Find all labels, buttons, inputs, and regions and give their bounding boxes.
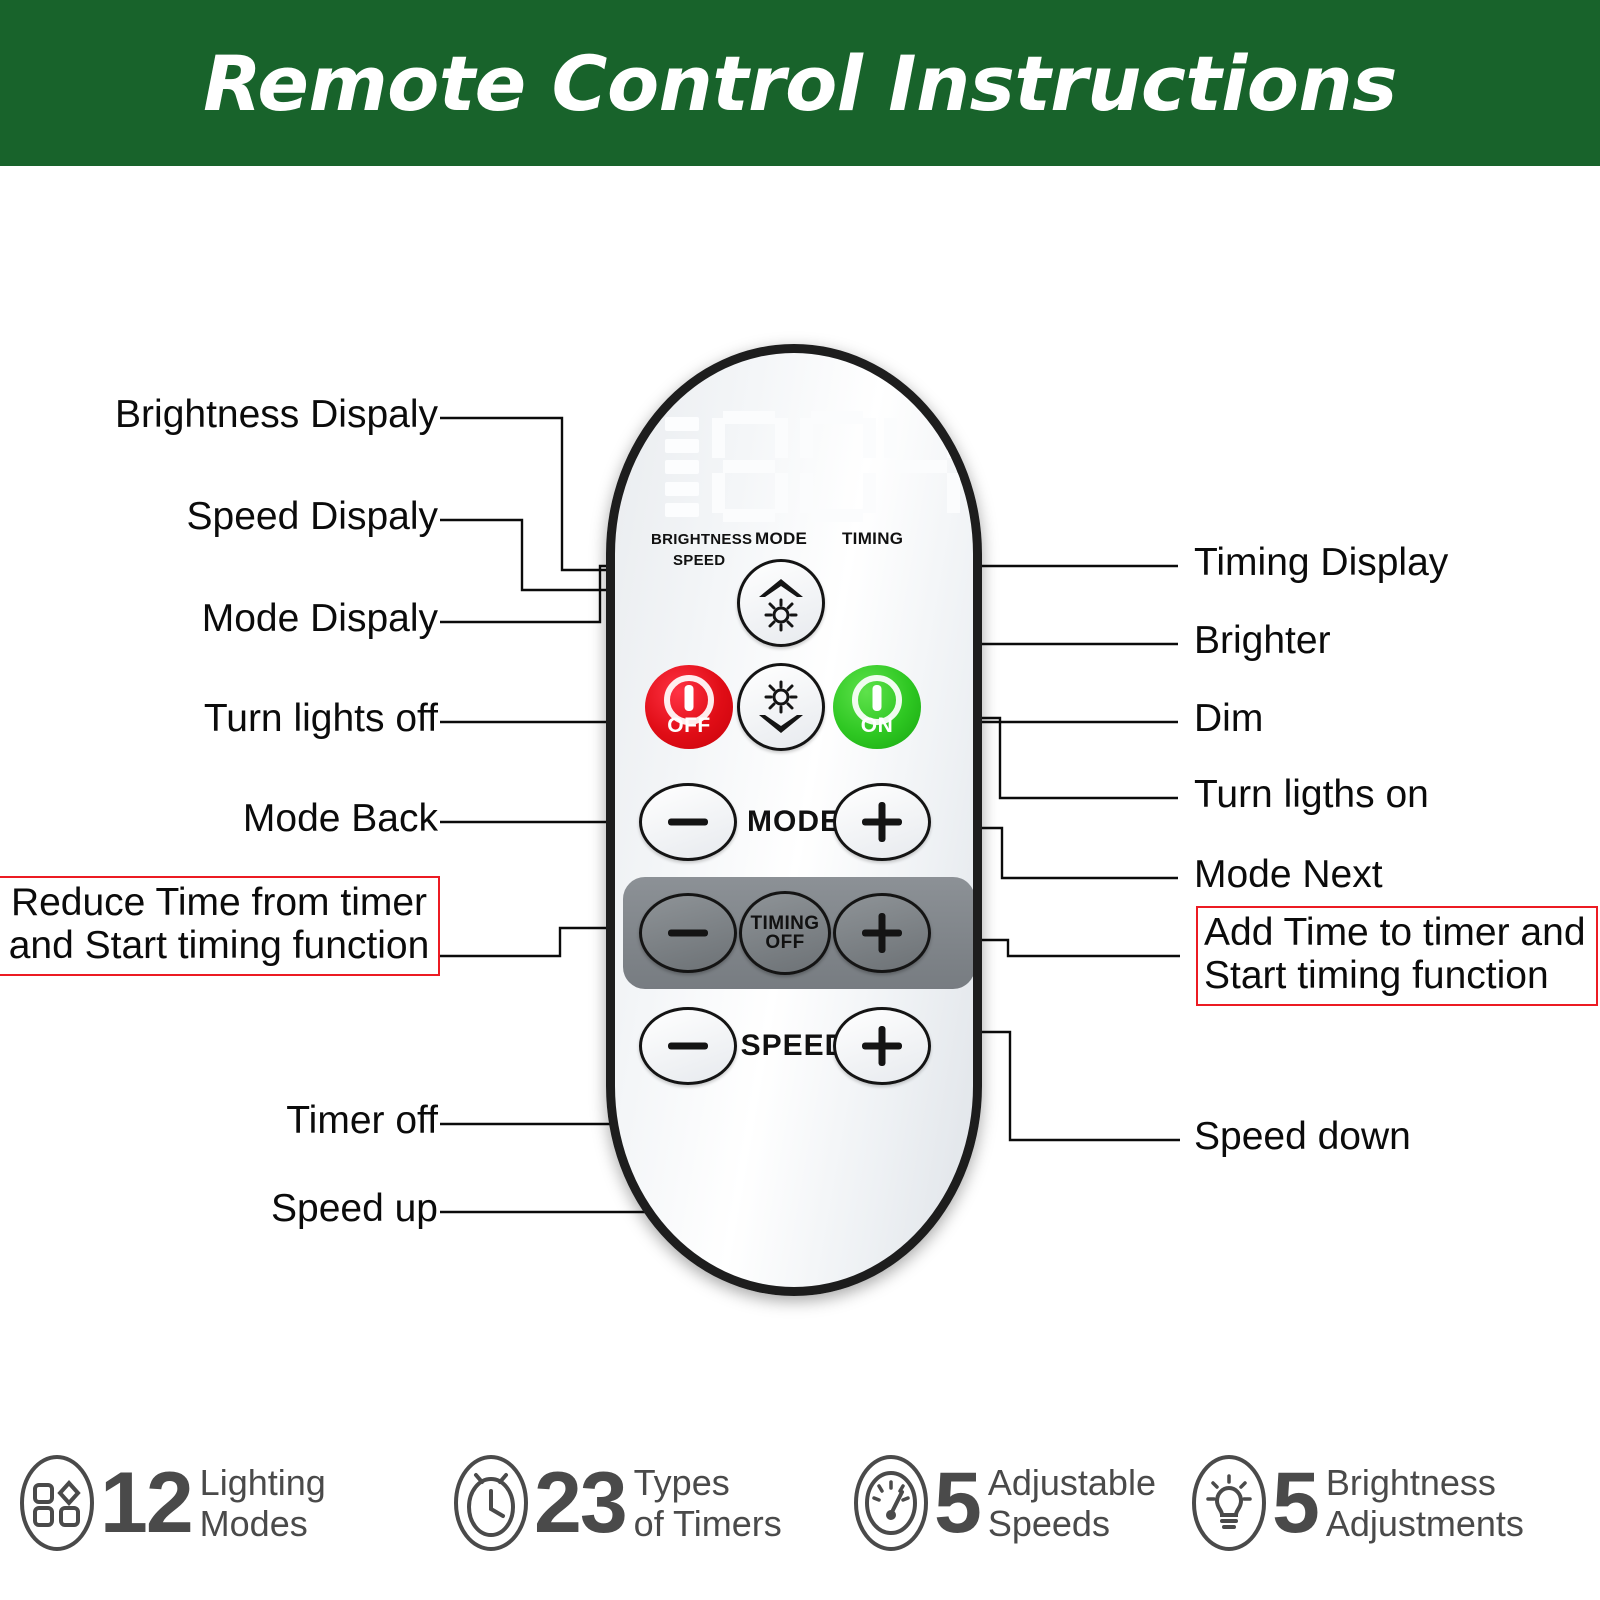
clock-icon: [452, 1454, 530, 1552]
plus-icon-vertical: [879, 802, 886, 842]
plus-icon-vertical: [879, 1026, 886, 1066]
feature-number: 12: [100, 1460, 192, 1546]
lcd-digit-3: [883, 411, 961, 523]
feature-text: Adjustable Speeds: [988, 1462, 1156, 1544]
callout-reduce-time: Reduce Time from timer and Start timing …: [0, 876, 440, 976]
callout-brighter: Brighter: [1194, 620, 1331, 661]
timing-off-line2: OFF: [765, 933, 804, 952]
power-symbol-bar-icon: [685, 685, 694, 711]
timing-plus-button[interactable]: [833, 893, 931, 973]
feature-line1: Lighting: [200, 1462, 326, 1503]
feature-number: 23: [534, 1460, 626, 1546]
feature-line2: Speeds: [988, 1503, 1110, 1544]
feature-lighting-modes: 12 Lighting Modes: [18, 1428, 326, 1578]
plus-icon-vertical: [879, 913, 886, 953]
callout-mode-back: Mode Back: [243, 798, 438, 839]
page-title: Remote Control Instructions: [0, 0, 1600, 166]
timing-off-line1: TIMING: [751, 914, 820, 933]
sun-down-icon: [747, 673, 815, 741]
feature-summary-row: 12 Lighting Modes 23 Types of Timers: [0, 1428, 1600, 1588]
brightness-bar-indicator: [665, 417, 699, 517]
callout-turn-lights-on: Turn ligths on: [1194, 774, 1429, 815]
speed-plus-button[interactable]: [833, 1007, 931, 1085]
bulb-icon: [1190, 1454, 1268, 1552]
minus-icon: [668, 930, 708, 937]
brighter-button[interactable]: [737, 559, 825, 647]
page-header: Remote Control Instructions: [0, 0, 1600, 166]
feature-line2: of Timers: [634, 1503, 782, 1544]
feature-text: Lighting Modes: [200, 1462, 326, 1544]
dim-button[interactable]: [737, 663, 825, 751]
callout-dim: Dim: [1194, 698, 1263, 739]
lcd-digit-1: [711, 411, 789, 523]
lighting-modes-icon: [18, 1454, 96, 1552]
feature-line1: Adjustable: [988, 1462, 1156, 1503]
callout-timer-off: Timer off: [286, 1100, 438, 1141]
callout-speed-up: Speed up: [271, 1188, 438, 1229]
feature-text: Types of Timers: [634, 1462, 782, 1544]
feature-line1: Brightness: [1326, 1462, 1496, 1503]
callout-speed-down: Speed down: [1194, 1116, 1411, 1157]
callout-turn-lights-off: Turn lights off: [204, 698, 438, 739]
on-button-label: ON: [833, 714, 921, 738]
lcd-digit-2: [799, 411, 877, 523]
power-symbol-bar-icon: [873, 685, 882, 711]
timing-minus-button[interactable]: [639, 893, 737, 973]
feature-line2: Modes: [200, 1503, 308, 1544]
feature-number: 5: [1272, 1460, 1318, 1546]
diagram-stage: BRIGHTNESS SPEED MODE TIMING: [0, 166, 1600, 1600]
feature-brightness-adjustments: 5 Brightness Adjustments: [1190, 1428, 1524, 1578]
callout-brightness-display: Brightness Dispaly: [115, 394, 438, 435]
callout-timing-display: Timing Display: [1194, 542, 1448, 583]
feature-text: Brightness Adjustments: [1326, 1462, 1524, 1544]
lcd-display: [615, 405, 973, 525]
power-on-button[interactable]: ON: [833, 665, 921, 749]
feature-line1: Types: [634, 1462, 730, 1503]
timing-off-button[interactable]: TIMING OFF: [739, 891, 831, 975]
feature-adjustable-speeds: 5 Adjustable Speeds: [852, 1428, 1156, 1578]
mode-plus-button[interactable]: [833, 783, 931, 861]
speedometer-icon: [852, 1454, 930, 1552]
callout-mode-next: Mode Next: [1194, 854, 1383, 895]
legend-timing: TIMING: [842, 529, 903, 549]
legend-brightness: BRIGHTNESS: [651, 531, 752, 548]
legend-mode: MODE: [755, 529, 807, 549]
sun-up-icon: [747, 569, 815, 637]
remote-control-device: BRIGHTNESS SPEED MODE TIMING: [606, 344, 982, 1296]
power-off-button[interactable]: OFF: [645, 665, 733, 749]
feature-timer-types: 23 Types of Timers: [452, 1428, 782, 1578]
feature-line2: Adjustments: [1326, 1503, 1524, 1544]
feature-number: 5: [934, 1460, 980, 1546]
callout-mode-display: Mode Dispaly: [202, 598, 438, 639]
callout-speed-display: Speed Dispaly: [187, 496, 438, 537]
legend-speed: SPEED: [673, 552, 725, 569]
callout-add-time: Add Time to timer and Start timing funct…: [1196, 906, 1598, 1006]
off-button-label: OFF: [645, 714, 733, 738]
